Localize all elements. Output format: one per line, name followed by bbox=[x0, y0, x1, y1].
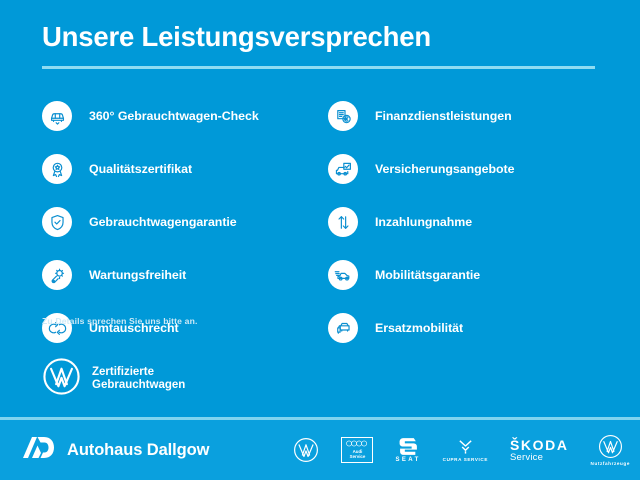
skoda-service-caption: Service bbox=[510, 452, 543, 463]
benefit-label: Mobilitätsgarantie bbox=[375, 268, 480, 282]
benefit-label: Inzahlungnahme bbox=[375, 215, 472, 229]
mobility-car-icon bbox=[328, 260, 358, 290]
cupra-logo-icon bbox=[457, 438, 474, 455]
vw-logo-icon bbox=[293, 437, 319, 463]
replacement-cars-icon bbox=[328, 313, 358, 343]
brand-audi-service: AudiService bbox=[341, 428, 373, 472]
benefit-label: Versicherungsangebote bbox=[375, 162, 514, 176]
shield-check-icon bbox=[42, 207, 72, 237]
benefit-item[interactable]: Mobilitätsgarantie bbox=[328, 255, 618, 295]
benefit-item[interactable]: Wartungsfreiheit bbox=[42, 255, 322, 295]
benefit-item[interactable]: Versicherungsangebote bbox=[328, 149, 618, 189]
title-divider bbox=[42, 66, 595, 69]
vw-nutzfahrzeuge-icon bbox=[598, 434, 623, 459]
brand-volkswagen bbox=[293, 428, 319, 472]
vw-logo-icon bbox=[42, 357, 81, 401]
audi-rings-icon bbox=[346, 440, 368, 447]
cupra-service-caption: CUPRA SERVICE bbox=[443, 457, 488, 462]
vw-certified-line1: Zertifizierte bbox=[92, 366, 185, 380]
brand-vw-nutzfahrzeuge: Nutzfahrzeuge bbox=[591, 428, 630, 472]
vw-certified-text: Zertifizierte Gebrauchtwagen bbox=[92, 366, 185, 393]
seat-logo-icon bbox=[398, 437, 419, 456]
benefit-item[interactable]: Finanzdienstleistungen bbox=[328, 96, 618, 136]
wrench-gear-icon bbox=[42, 260, 72, 290]
benefit-label: Qualitätszertifikat bbox=[89, 162, 192, 176]
benefit-label: 360° Gebrauchtwagen-Check bbox=[89, 109, 259, 123]
benefits-column-right: Finanzdienstleistungen Versicherungsange… bbox=[328, 96, 618, 361]
brand-cupra-service: CUPRA SERVICE bbox=[443, 428, 488, 472]
benefit-label: Gebrauchtwagengarantie bbox=[89, 215, 237, 229]
car-check-360-icon bbox=[42, 101, 72, 131]
contact-note: Zu Details sprechen Sie uns bitte an. bbox=[42, 316, 198, 326]
benefit-item[interactable]: 360° Gebrauchtwagen-Check bbox=[42, 96, 322, 136]
page-title: Unsere Leistungsversprechen bbox=[42, 21, 431, 53]
brand-skoda-service: ŠKODA Service bbox=[510, 428, 569, 472]
seat-caption: SEAT bbox=[395, 457, 420, 463]
brand-logo-strip: AudiService SEAT CUPRA SERVICE ŠKODA Ser… bbox=[293, 420, 630, 480]
vw-certified-line2: Gebrauchtwagen bbox=[92, 379, 185, 393]
vw-nutzfahrzeuge-caption: Nutzfahrzeuge bbox=[591, 461, 630, 466]
insurance-car-icon bbox=[328, 154, 358, 184]
benefit-label: Finanzdienstleistungen bbox=[375, 109, 512, 123]
dealer-brand[interactable]: Autohaus Dallgow bbox=[22, 437, 209, 463]
trade-in-arrows-icon bbox=[328, 207, 358, 237]
skoda-wordmark: ŠKODA bbox=[510, 438, 569, 452]
benefit-item[interactable]: Ersatzmobilität bbox=[328, 308, 618, 348]
benefit-label: Wartungsfreiheit bbox=[89, 268, 186, 282]
benefit-item[interactable]: Qualitätszertifikat bbox=[42, 149, 322, 189]
benefit-item[interactable]: Gebrauchtwagengarantie bbox=[42, 202, 322, 242]
audi-service-box: AudiService bbox=[341, 437, 373, 464]
brand-seat: SEAT bbox=[395, 428, 420, 472]
footer-bar: Autohaus Dallgow AudiService bbox=[0, 420, 640, 480]
finance-coins-icon bbox=[328, 101, 358, 131]
benefit-item[interactable]: Inzahlungnahme bbox=[328, 202, 618, 242]
benefit-label: Ersatzmobilität bbox=[375, 321, 463, 335]
ad-monogram-icon bbox=[22, 437, 54, 463]
audi-service-caption: AudiService bbox=[350, 449, 366, 459]
dealer-name: Autohaus Dallgow bbox=[67, 441, 209, 460]
benefit-item[interactable]: Umtauschrecht bbox=[42, 308, 322, 348]
vw-certified-block: Zertifizierte Gebrauchtwagen bbox=[42, 357, 185, 401]
quality-seal-icon bbox=[42, 154, 72, 184]
